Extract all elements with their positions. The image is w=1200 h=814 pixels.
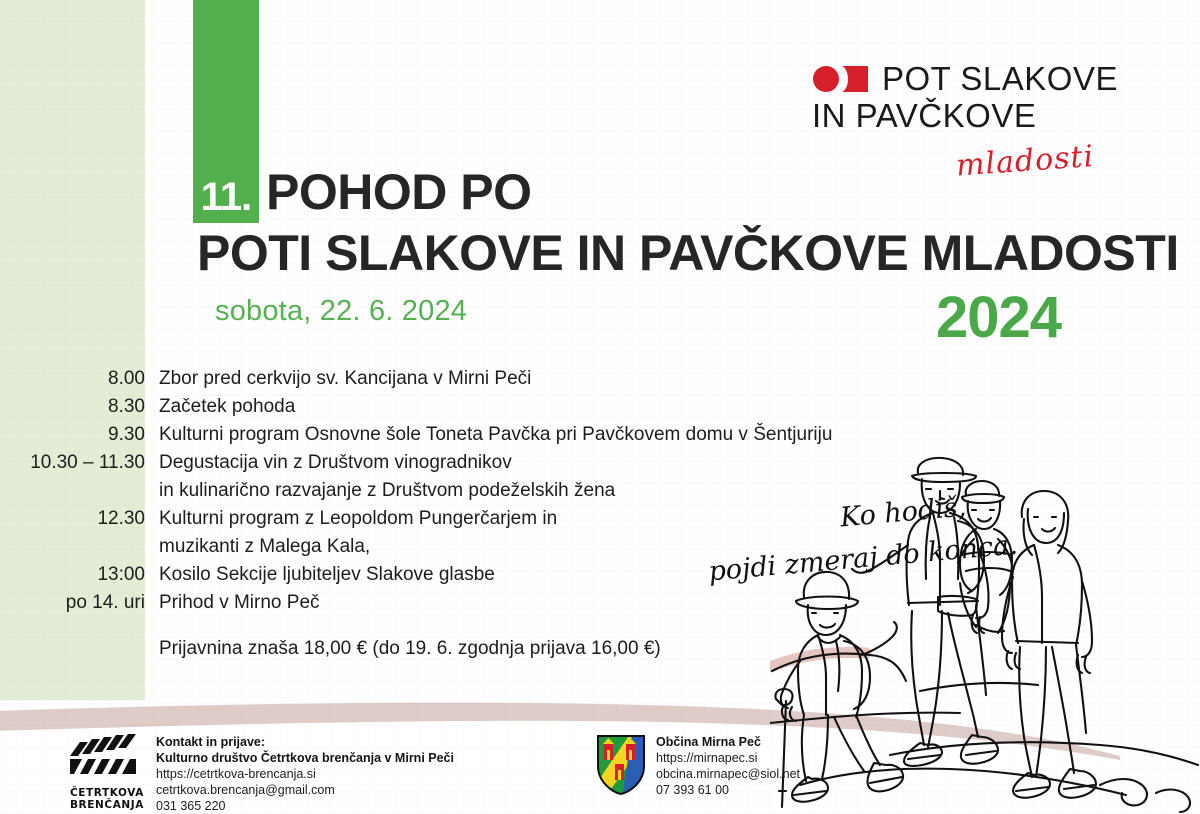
brand-line1: POT SLAKOVE xyxy=(882,62,1118,97)
brand-line2: IN PAVČKOVE xyxy=(812,99,1102,134)
clapperboard-label-line2: BRENČANJA xyxy=(70,799,144,811)
event-year: 2024 xyxy=(936,284,1061,351)
headline-line1: POHOD PO xyxy=(266,166,531,219)
footer-municipality-block: Občina Mirna Peč https://mirnapec.si obc… xyxy=(596,734,800,801)
headline-line2: POTI SLAKOVE IN PAVČKOVE MLADOSTI xyxy=(197,226,1179,281)
footer: ČETRTKOVA BRENČANJA Kontakt in prijave: … xyxy=(0,728,1200,814)
poster-canvas: 11. POT SLAKOVE IN PAVČKOVE mladosti POH… xyxy=(0,0,1200,814)
schedule-desc: Kulturni program Osnovne šole Toneta Pav… xyxy=(153,424,832,446)
handwritten-quote: Ko hodiš, pojdi zmeraj do konca. xyxy=(700,495,990,595)
quote-line1: Ko hodiš, xyxy=(839,492,968,534)
clapperboard-label-line1: ČETRTKOVA xyxy=(70,787,144,799)
registration-price-note: Prijavnina znaša 18,00 € (do 19. 6. zgod… xyxy=(153,638,661,660)
contact-heading: Kontakt in prijave: xyxy=(156,734,454,750)
municipality-website[interactable]: https://mirnapec.si xyxy=(656,750,800,766)
municipality-phone: 07 393 61 00 xyxy=(656,782,800,798)
schedule-row: 8.00 Zbor pred cerkvijo sv. Kancijana v … xyxy=(0,368,900,390)
municipality-email[interactable]: obcina.mirnapec@siol.net xyxy=(656,766,800,782)
schedule-time: 8.00 xyxy=(0,368,153,390)
municipality-contact-text: Občina Mirna Peč https://mirnapec.si obc… xyxy=(656,734,800,798)
coat-of-arms-icon xyxy=(596,734,646,801)
municipality-name: Občina Mirna Peč xyxy=(656,734,800,750)
schedule-desc: in kulinarično razvajanje z Društvom pod… xyxy=(153,480,615,502)
footer-organizer-block: ČETRTKOVA BRENČANJA Kontakt in prijave: … xyxy=(68,734,454,814)
schedule-row: 10.30 – 11.30 Degustacija vin z Društvom… xyxy=(0,452,900,474)
schedule-time: 12.30 xyxy=(0,508,153,530)
schedule-time: 9.30 xyxy=(0,424,153,446)
schedule-desc: Prihod v Mirno Peč xyxy=(153,592,320,614)
organizer-website[interactable]: https://cetrtkova-brencanja.si xyxy=(156,766,454,782)
organizer-contact-text: Kontakt in prijave: Kulturno društvo Čet… xyxy=(156,734,454,814)
brand-mark-icon xyxy=(812,64,872,94)
clapperboard-logo: ČETRTKOVA BRENČANJA xyxy=(68,734,146,811)
schedule-row: po 14. uri Prihod v Mirno Peč xyxy=(0,592,900,614)
brand-script-mladosti: mladosti xyxy=(811,139,1095,194)
schedule-time: 10.30 – 11.30 xyxy=(0,452,153,474)
brand-logo: POT SLAKOVE IN PAVČKOVE mladosti xyxy=(812,62,1102,174)
schedule-desc: Kulturni program z Leopoldom Pungerčarje… xyxy=(153,508,557,530)
edition-number-badge: 11. xyxy=(193,171,259,223)
green-accent-bar xyxy=(193,0,259,171)
schedule-desc: Začetek pohoda xyxy=(153,396,295,418)
organizer-phone: 031 365 220 xyxy=(156,798,454,814)
schedule-desc: Kosilo Sekcije ljubiteljev Slakove glasb… xyxy=(153,564,495,586)
headline-line1-wrap: POHOD PO xyxy=(266,166,531,219)
schedule-row: 8.30 Začetek pohoda xyxy=(0,396,900,418)
schedule-time: 13:00 xyxy=(0,564,153,586)
schedule-time: 8.30 xyxy=(0,396,153,418)
schedule-desc: Zbor pred cerkvijo sv. Kancijana v Mirni… xyxy=(153,368,531,390)
organizer-name: Kulturno društvo Četrtkova brenčanja v M… xyxy=(156,750,454,766)
schedule-row: 9.30 Kulturni program Osnovne šole Tonet… xyxy=(0,424,900,446)
event-date: sobota, 22. 6. 2024 xyxy=(215,295,467,328)
clapperboard-logo-label: ČETRTKOVA BRENČANJA xyxy=(68,787,146,811)
schedule-desc: muzikanti z Malega Kala, xyxy=(153,536,370,558)
schedule-time: po 14. uri xyxy=(0,592,153,614)
price-row: Prijavnina znaša 18,00 € (do 19. 6. zgod… xyxy=(0,638,900,660)
organizer-email[interactable]: cetrtkova.brencanja@gmail.com xyxy=(156,782,454,798)
quote-line2: pojdi zmeraj do konca. xyxy=(707,530,1019,588)
schedule-desc: Degustacija vin z Društvom vinogradnikov xyxy=(153,452,512,474)
